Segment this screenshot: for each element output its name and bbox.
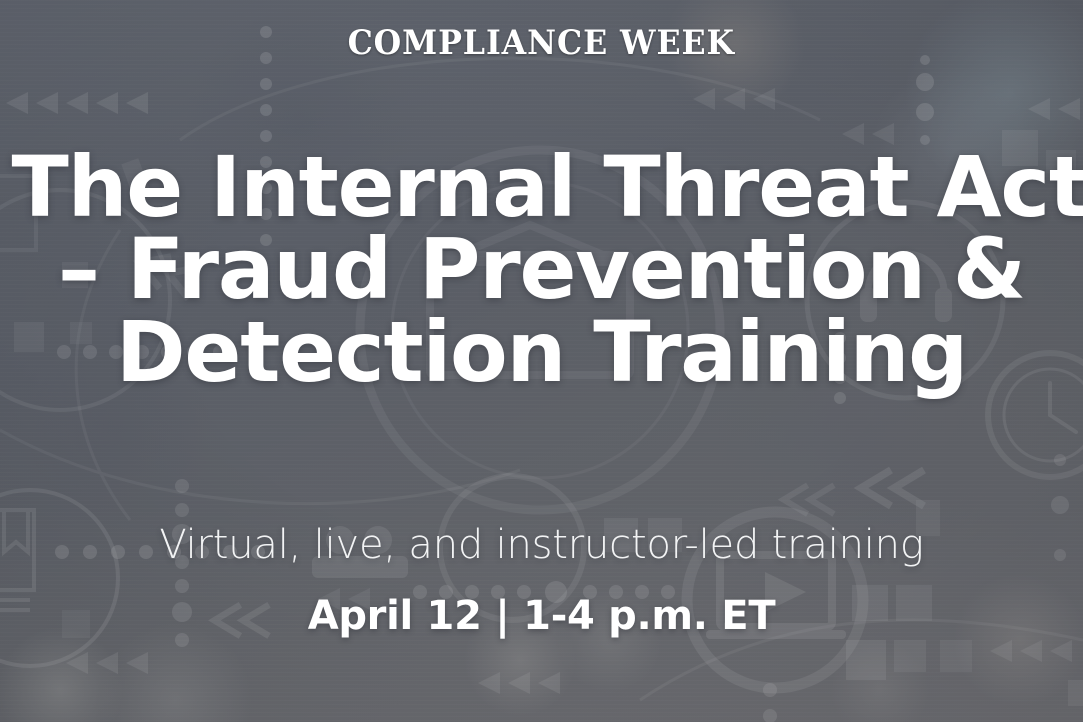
compliance-week-logo: COMPLIANCE WEEK — [348, 26, 735, 60]
event-date-time: April 12 | 1-4 p.m. ET — [308, 593, 776, 639]
banner-content: COMPLIANCE WEEK The Internal Threat Acto… — [0, 0, 1083, 722]
headline-line-3: Detection Training — [12, 311, 1072, 393]
promotional-banner: COMPLIANCE WEEK The Internal Threat Acto… — [0, 0, 1083, 722]
headline-line-1: The Internal Threat Actor — [12, 146, 1072, 228]
page-title: The Internal Threat Actor – Fraud Preven… — [12, 146, 1072, 393]
headline-line-2: – Fraud Prevention & — [12, 228, 1072, 310]
event-format-subtitle: Virtual, live, and instructor-led traini… — [159, 523, 923, 567]
